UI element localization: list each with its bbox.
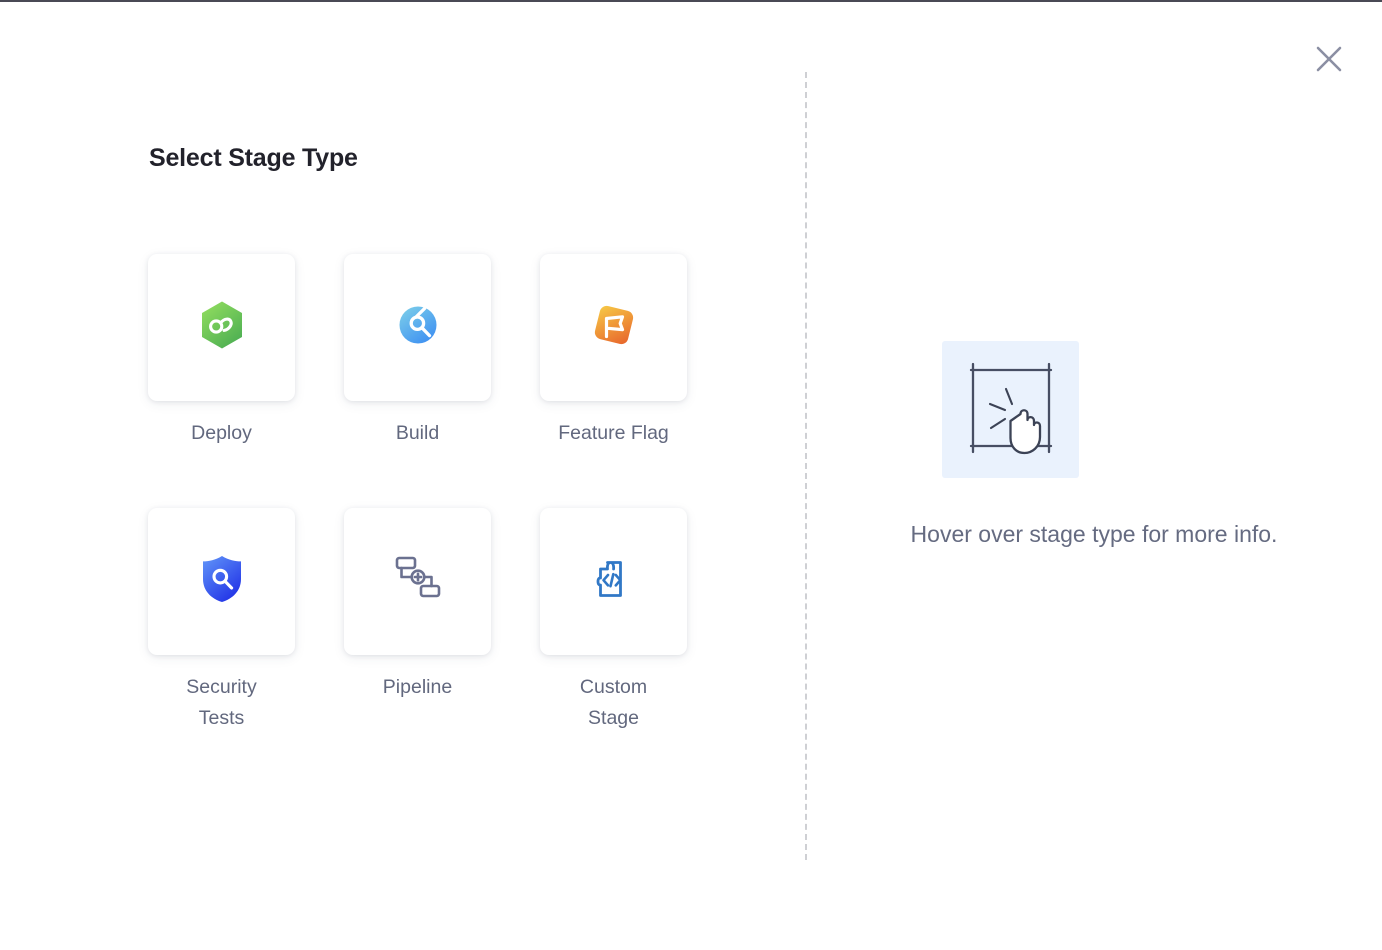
stage-label-pipeline: Pipeline [358, 672, 478, 703]
build-circle-magnifier-icon [394, 301, 442, 354]
stage-type-option-feature-flag[interactable]: Feature Flag [540, 254, 687, 449]
pipeline-nodes-icon [392, 553, 444, 610]
stage-label-deploy: Deploy [162, 418, 282, 449]
click-hand-square-icon [942, 341, 1079, 478]
stage-card-build[interactable] [344, 254, 491, 401]
stage-type-grid: Deploy [148, 254, 738, 734]
stage-label-feature-flag: Feature Flag [554, 418, 674, 449]
stage-label-custom-stage: Custom Stage [554, 672, 674, 734]
hover-hint-text: Hover over stage type for more info. [835, 516, 1353, 553]
stage-label-security-tests: Security Tests [162, 672, 282, 734]
security-shield-magnifier-icon [200, 554, 244, 609]
custom-stage-puzzle-code-icon [592, 557, 636, 606]
feature-flag-square-flag-icon [589, 300, 639, 355]
stage-type-option-custom-stage[interactable]: Custom Stage [540, 508, 687, 734]
stage-card-custom-stage[interactable] [540, 508, 687, 655]
page-title: Select Stage Type [149, 144, 358, 173]
stage-label-build: Build [358, 418, 478, 449]
stage-card-security-tests[interactable] [148, 508, 295, 655]
deploy-hexagon-infinity-icon [199, 300, 245, 355]
stage-info-panel: Hover over stage type for more info. [805, 0, 1382, 950]
stage-card-pipeline[interactable] [344, 508, 491, 655]
stage-card-feature-flag[interactable] [540, 254, 687, 401]
stage-type-option-build[interactable]: Build [344, 254, 491, 449]
stage-type-selection-panel: Select Stage Type [0, 0, 805, 950]
stage-type-option-security-tests[interactable]: Security Tests [148, 508, 295, 734]
stage-type-option-pipeline[interactable]: Pipeline [344, 508, 491, 734]
select-stage-type-dialog: Select Stage Type [0, 0, 1382, 950]
stage-type-option-deploy[interactable]: Deploy [148, 254, 295, 449]
stage-card-deploy[interactable] [148, 254, 295, 401]
